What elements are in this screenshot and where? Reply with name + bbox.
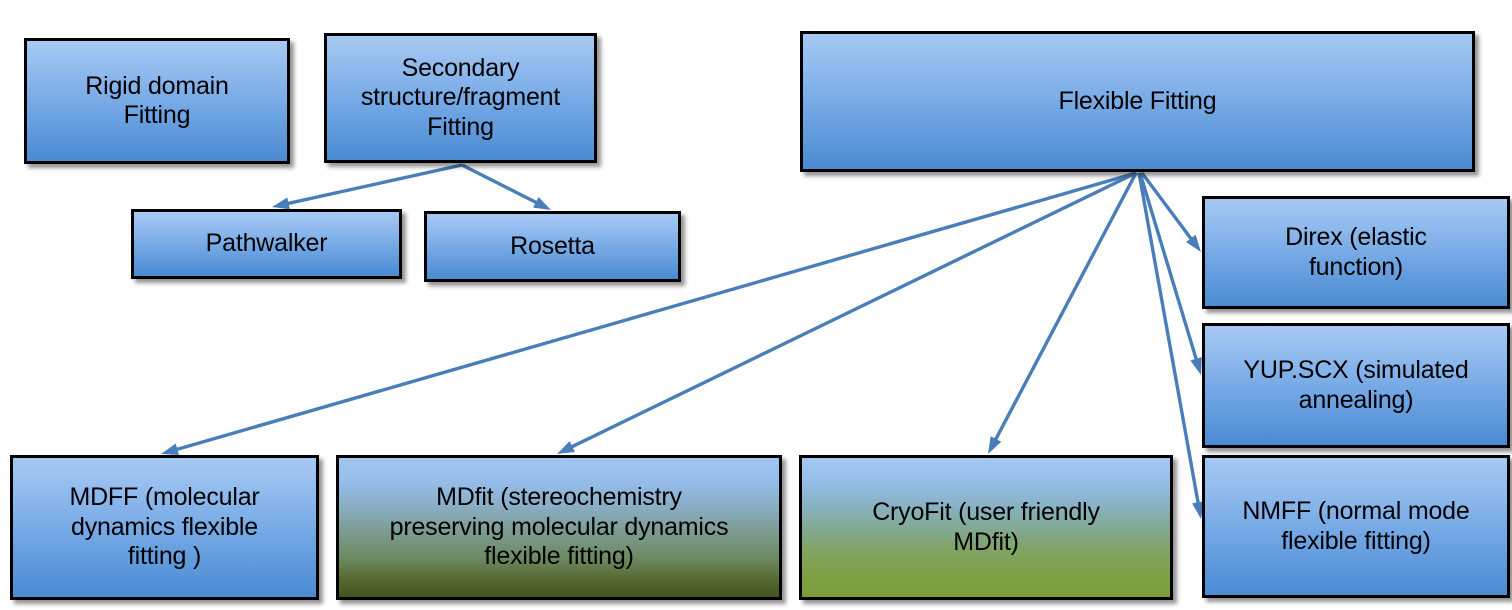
node-flexible-fitting[interactable]: Flexible Fitting xyxy=(800,31,1475,172)
node-label-mdff: MDFF (molecular dynamics flexible fittin… xyxy=(63,483,265,572)
node-cryofit[interactable]: CryoFit (user friendly MDfit) xyxy=(799,455,1173,600)
node-label-nmff: NMFF (normal mode flexible fitting) xyxy=(1236,497,1475,556)
arrow-shaft xyxy=(285,165,462,204)
node-yup-scx[interactable]: YUP.SCX (simulated annealing) xyxy=(1202,323,1510,448)
node-label-pathwalker: Pathwalker xyxy=(200,229,334,259)
node-rosetta[interactable]: Rosetta xyxy=(424,211,681,282)
arrow-head xyxy=(988,436,1001,454)
node-label-secondary-structure-fragment-fitting: Secondary structure/fragment Fitting xyxy=(355,54,566,143)
node-rigid-domain-fitting[interactable]: Rigid domain Fitting xyxy=(24,38,290,164)
arrow-flexible-to-yupscx xyxy=(1140,173,1202,375)
arrow-head xyxy=(557,441,575,454)
arrow-head xyxy=(1190,357,1201,375)
node-label-rosetta: Rosetta xyxy=(504,232,601,262)
arrow-flexible-to-cryofit xyxy=(988,173,1136,454)
arrow-flexible-to-direx xyxy=(1142,173,1201,252)
node-nmff[interactable]: NMFF (normal mode flexible fitting) xyxy=(1202,455,1510,598)
node-secondary-structure-fragment-fitting[interactable]: Secondary structure/fragment Fitting xyxy=(324,33,597,163)
diagram-canvas: Rigid domain FittingSecondary structure/… xyxy=(0,0,1512,610)
node-label-direx: Direx (elastic function) xyxy=(1279,223,1433,282)
arrow-shaft xyxy=(462,165,539,204)
node-label-yup-scx: YUP.SCX (simulated annealing) xyxy=(1237,356,1474,415)
arrow-head xyxy=(161,444,179,456)
arrow-head xyxy=(533,197,551,210)
node-direx[interactable]: Direx (elastic function) xyxy=(1202,196,1510,309)
arrow-head xyxy=(1186,235,1201,252)
node-label-flexible-fitting: Flexible Fitting xyxy=(1053,87,1223,117)
arrow-secondary-to-rosetta xyxy=(462,165,551,210)
node-label-cryofit: CryoFit (user friendly MDfit) xyxy=(866,498,1106,557)
node-pathwalker[interactable]: Pathwalker xyxy=(131,209,402,279)
arrow-shaft xyxy=(1140,173,1197,363)
node-label-rigid-domain-fitting: Rigid domain Fitting xyxy=(79,72,235,131)
node-label-mdfit: MDfit (stereochemistry preserving molecu… xyxy=(384,483,735,572)
arrow-head xyxy=(272,197,290,209)
node-mdfit[interactable]: MDfit (stereochemistry preserving molecu… xyxy=(336,455,782,600)
arrow-shaft xyxy=(994,173,1136,442)
arrow-shaft xyxy=(1142,173,1193,242)
arrow-secondary-to-pathwalker xyxy=(272,165,462,209)
node-mdff[interactable]: MDFF (molecular dynamics flexible fittin… xyxy=(10,455,319,600)
